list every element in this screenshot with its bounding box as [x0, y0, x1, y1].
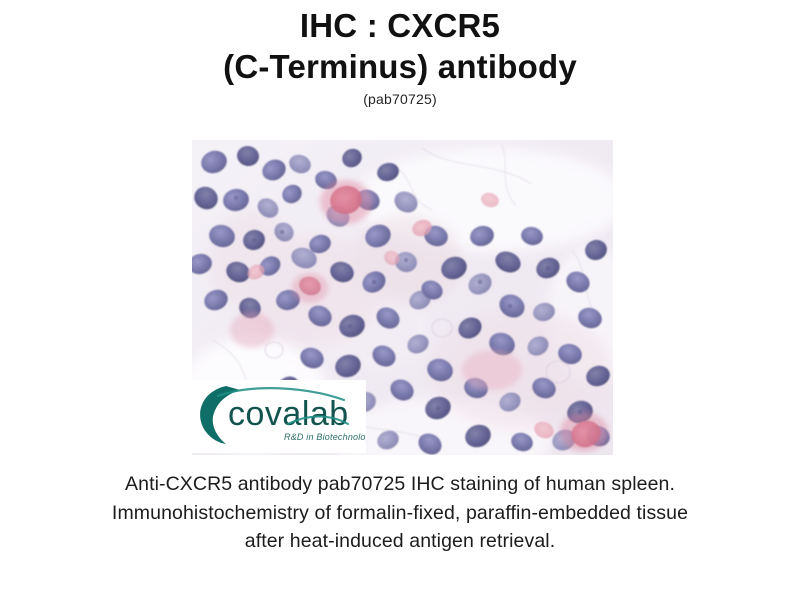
catalog-number: (pab70725) [0, 91, 800, 107]
page-title-line-1: IHC : CXCR5 [0, 6, 800, 47]
covalab-tagline-text: R&D in Biotechnology [284, 432, 366, 442]
covalab-wordmark-text: covalab [228, 395, 349, 433]
micrograph-figure: covalab R&D in Biotechnology [192, 140, 613, 455]
page-title-line-2: (C-Terminus) antibody [0, 47, 800, 88]
title-block: IHC : CXCR5 (C-Terminus) antibody (pab70… [0, 0, 800, 107]
covalab-logo-watermark: covalab R&D in Biotechnology [192, 380, 366, 453]
product-figure-page: IHC : CXCR5 (C-Terminus) antibody (pab70… [0, 0, 800, 600]
figure-caption: Anti-CXCR5 antibody pab70725 IHC stainin… [95, 470, 705, 556]
